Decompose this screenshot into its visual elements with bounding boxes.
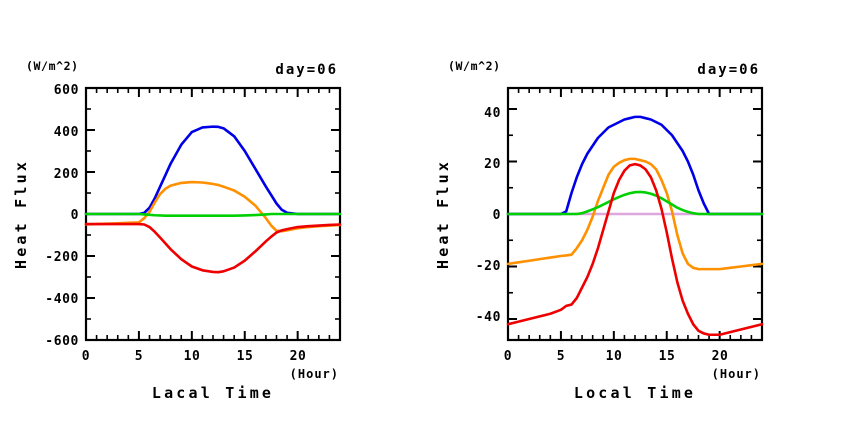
plot-area-right bbox=[508, 88, 762, 340]
y-tick-label: 0 bbox=[71, 208, 79, 223]
y-axis-tick-labels-left: 600 400 200 0 -200 -400 -600 bbox=[45, 83, 79, 349]
x-tick-label: 15 bbox=[237, 349, 254, 364]
x-tick-label: 5 bbox=[557, 349, 565, 364]
x-tick-label: 10 bbox=[184, 349, 201, 364]
series-line-sensible-heat-flux bbox=[86, 224, 340, 272]
y-tick-label: -20 bbox=[476, 259, 501, 274]
plot-area-left bbox=[86, 88, 340, 340]
x-tick-label: 20 bbox=[290, 349, 307, 364]
y-tick-label: 0 bbox=[493, 208, 501, 223]
x-tick-label: 20 bbox=[712, 349, 729, 364]
chart-svg-left: (W/m^2) day=06 600 400 200 0 -200 -400 -… bbox=[0, 0, 422, 424]
y-tick-label: 20 bbox=[484, 157, 501, 172]
y-axis-title-right: Heat Flux bbox=[434, 159, 452, 269]
y-tick-label: 200 bbox=[54, 167, 79, 182]
series-line-ground-heat-flux bbox=[86, 214, 340, 216]
x-axis-title-left: Lacal Time bbox=[152, 384, 274, 402]
figure-canvas: (W/m^2) day=06 600 400 200 0 -200 -400 -… bbox=[0, 0, 844, 424]
x-tick-label: 5 bbox=[135, 349, 143, 364]
x-tick-label: 0 bbox=[504, 349, 512, 364]
chart-panel-left: (W/m^2) day=06 600 400 200 0 -200 -400 -… bbox=[0, 0, 422, 424]
y-axis-title-left: Heat Flux bbox=[12, 159, 30, 269]
x-unit-label-right: (Hour) bbox=[712, 367, 761, 381]
series-line-sensible-heat-flux bbox=[508, 164, 762, 335]
x-tick-label: 15 bbox=[659, 349, 676, 364]
x-axis-title-right: Local Time bbox=[574, 384, 696, 402]
y-tick-label: -400 bbox=[45, 292, 79, 307]
y-tick-label: -600 bbox=[45, 334, 79, 349]
y-tick-label: 400 bbox=[54, 125, 79, 140]
series-line-ground-heat-flux bbox=[508, 192, 762, 214]
x-tick-label: 0 bbox=[82, 349, 90, 364]
y-tick-label: 40 bbox=[484, 106, 501, 121]
x-axis-tick-labels-left: 0 5 10 15 20 bbox=[82, 349, 307, 364]
day-title-right: day=06 bbox=[697, 62, 760, 78]
x-tick-label: 10 bbox=[606, 349, 623, 364]
x-unit-label-left: (Hour) bbox=[290, 367, 339, 381]
unit-label-right: (W/m^2) bbox=[448, 59, 501, 73]
y-axis-tick-labels-right: 40 20 0 -20 -40 bbox=[476, 106, 501, 325]
series-line-net-radiation bbox=[86, 127, 340, 214]
y-tick-label: -40 bbox=[476, 310, 501, 325]
x-axis-tick-labels-right: 0 5 10 15 20 bbox=[504, 349, 729, 364]
chart-svg-right: (W/m^2) day=06 40 20 0 -20 -40 0 5 10 15… bbox=[422, 0, 844, 424]
chart-panel-right: (W/m^2) day=06 40 20 0 -20 -40 0 5 10 15… bbox=[422, 0, 844, 424]
unit-label-left: (W/m^2) bbox=[26, 59, 79, 73]
day-title-left: day=06 bbox=[275, 62, 338, 78]
y-tick-label: -200 bbox=[45, 250, 79, 265]
y-tick-label: 600 bbox=[54, 83, 79, 98]
